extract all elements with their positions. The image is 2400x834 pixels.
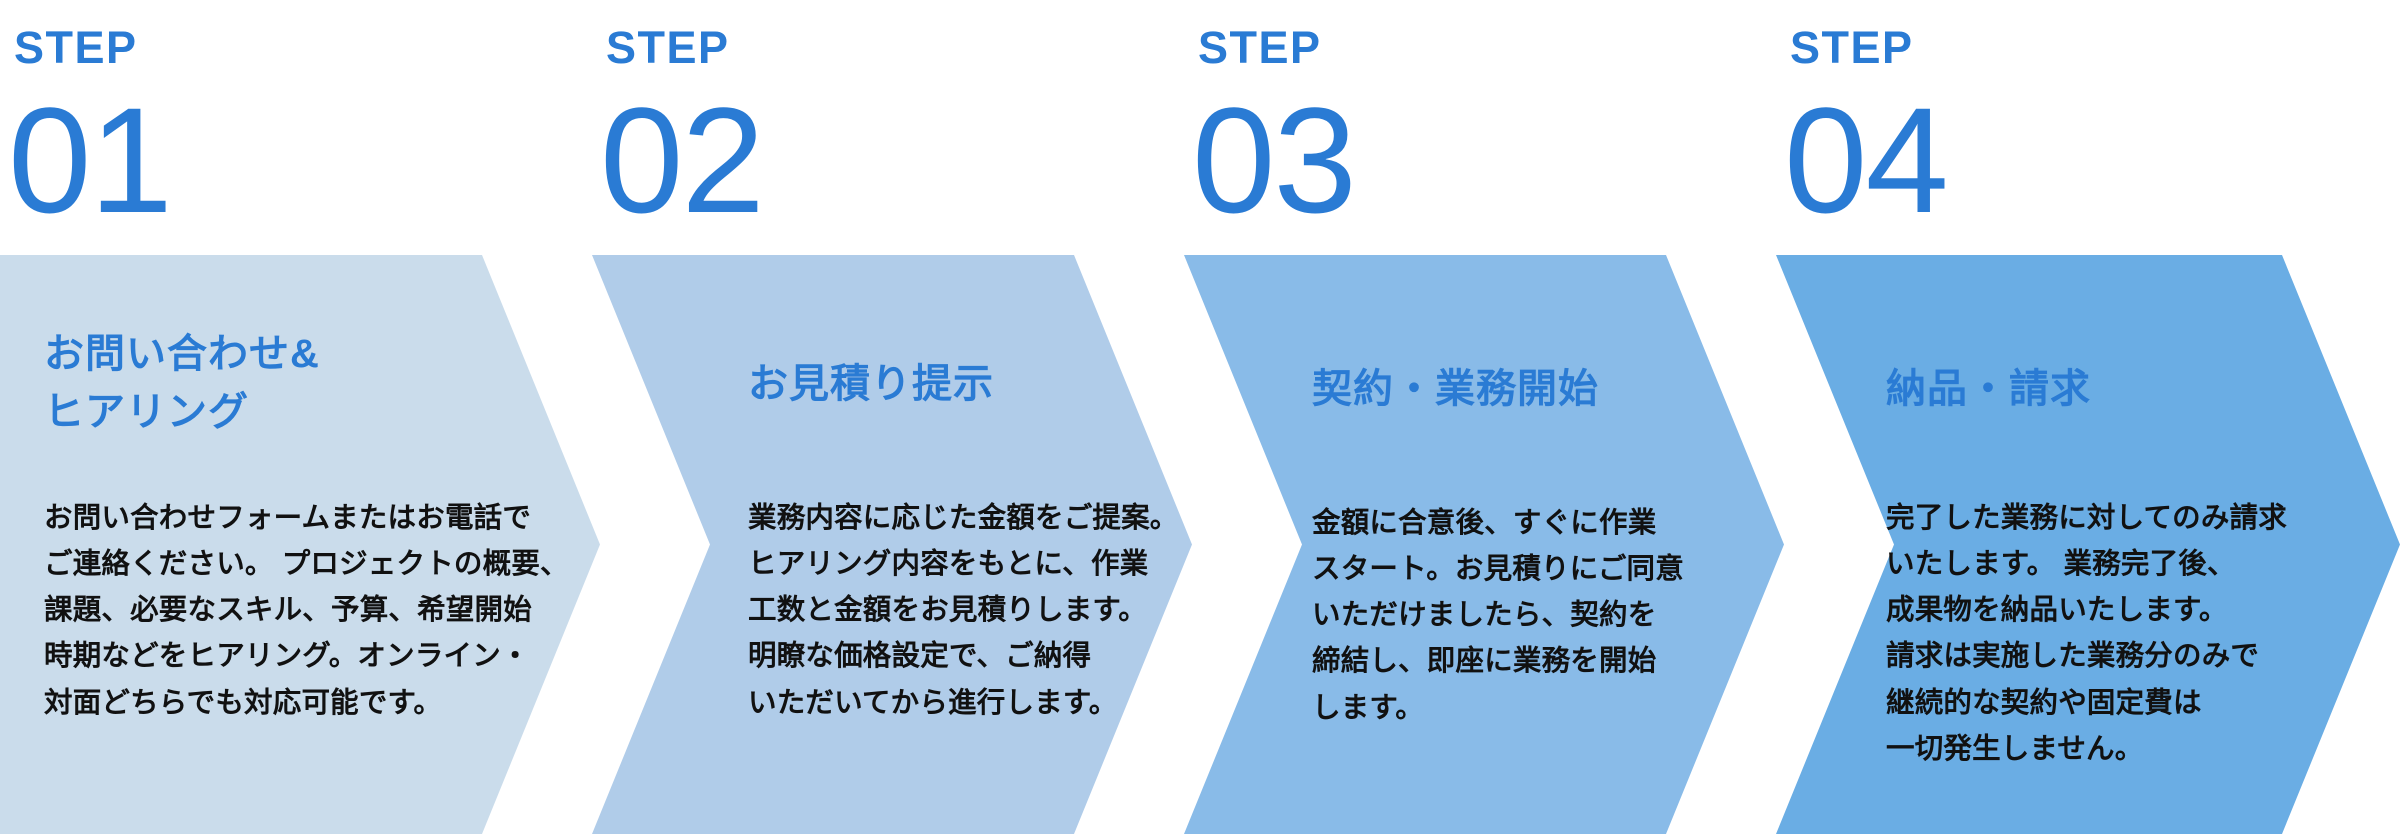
step-4-number: 04 [1784, 85, 1947, 235]
step-1-title: お問い合わせ& ヒアリング [44, 325, 320, 441]
step-4-title: 納品・請求 [1886, 360, 2091, 418]
step-2-body: 業務内容に応じた金額をご提案。 ヒアリング内容をもとに、作業 工数と金額をお見積… [748, 495, 1179, 726]
step-2: STEP 02 お見積り提示 業務内容に応じた金額をご提案。 ヒアリング内容をも… [592, 0, 1192, 834]
step-2-label: STEP [606, 25, 730, 70]
step-3-label: STEP [1198, 25, 1322, 70]
step-2-title: お見積り提示 [748, 355, 994, 413]
step-4-label: STEP [1790, 25, 1914, 70]
step-3-number: 03 [1192, 85, 1355, 235]
step-1-body: お問い合わせフォームまたはお電話で ご連絡ください。 プロジェクトの概要、 課題… [44, 495, 569, 726]
step-1-label: STEP [14, 25, 138, 70]
step-2-number: 02 [600, 85, 763, 235]
step-1: STEP 01 お問い合わせ& ヒアリング お問い合わせフォームまたはお電話で … [0, 0, 600, 834]
step-4-body: 完了した業務に対してのみ請求 いたします。 業務完了後、 成果物を納品いたします… [1886, 495, 2287, 772]
step-1-number: 01 [8, 85, 171, 235]
step-3: STEP 03 契約・業務開始 金額に合意後、すぐに作業 スタート。お見積りにご… [1184, 0, 1784, 834]
step-3-body: 金額に合意後、すぐに作業 スタート。お見積りにご同意 いただけましたら、契約を … [1312, 500, 1684, 731]
step-4: STEP 04 納品・請求 完了した業務に対してのみ請求 いたします。 業務完了… [1776, 0, 2400, 834]
step-3-title: 契約・業務開始 [1312, 360, 1599, 418]
process-steps-flow: STEP 01 お問い合わせ& ヒアリング お問い合わせフォームまたはお電話で … [0, 0, 2400, 834]
